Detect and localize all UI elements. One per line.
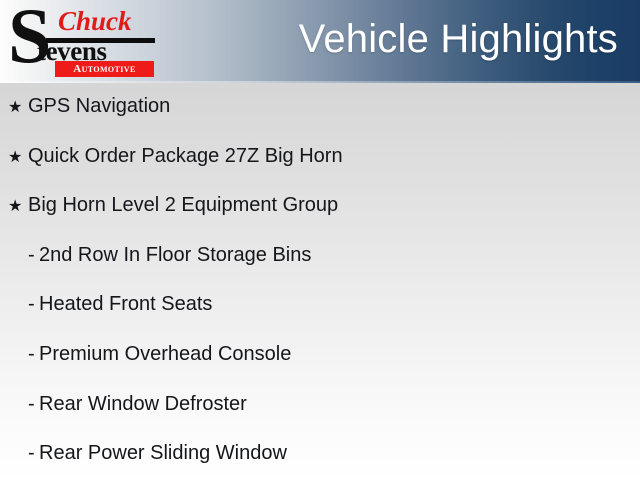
logo-first-name: Chuck [58,8,132,35]
dash-bullet-icon: - [28,293,39,316]
vehicle-highlights-list: ★GPS Navigation★Quick Order Package 27Z … [0,83,640,480]
page-title: Vehicle Highlights [299,8,618,70]
highlight-item: -2nd Row In Floor Storage Bins [0,243,311,267]
dash-bullet-icon: - [28,442,39,465]
highlight-item: ★Big Horn Level 2 Equipment Group [0,193,338,217]
highlight-item: -Rear Power Sliding Window [0,441,287,465]
dealer-logo: S Chuck tevens Automotive [6,4,166,78]
highlight-item-label: Quick Order Package 27Z Big Horn [28,144,343,168]
highlight-item-label: 2nd Row In Floor Storage Bins [39,243,311,267]
vehicle-highlights-slide: S Chuck tevens Automotive Vehicle Highli… [0,0,640,480]
dash-bullet-icon: - [28,343,39,366]
logo-tagline-bar: Automotive [55,61,154,77]
highlight-item-label: Big Horn Level 2 Equipment Group [28,193,338,217]
highlight-item: ★Quick Order Package 27Z Big Horn [0,144,343,168]
logo-tagline-text: Automotive [55,61,154,77]
highlight-item-label: Rear Power Sliding Window [39,441,287,465]
dash-bullet-icon: - [28,393,39,416]
star-bullet-icon: ★ [8,196,28,216]
slide-header: S Chuck tevens Automotive Vehicle Highli… [0,0,640,83]
highlight-item: ★GPS Navigation [0,94,170,118]
highlight-item-label: Premium Overhead Console [39,342,291,366]
highlight-item-label: Heated Front Seats [39,292,212,316]
highlight-item-label: GPS Navigation [28,94,170,118]
highlight-item: -Heated Front Seats [0,292,212,316]
highlight-item: -Rear Window Defroster [0,392,247,416]
star-bullet-icon: ★ [8,97,28,117]
highlight-item: -Premium Overhead Console [0,342,291,366]
highlight-item-label: Rear Window Defroster [39,392,247,416]
star-bullet-icon: ★ [8,147,28,167]
dash-bullet-icon: - [28,244,39,267]
